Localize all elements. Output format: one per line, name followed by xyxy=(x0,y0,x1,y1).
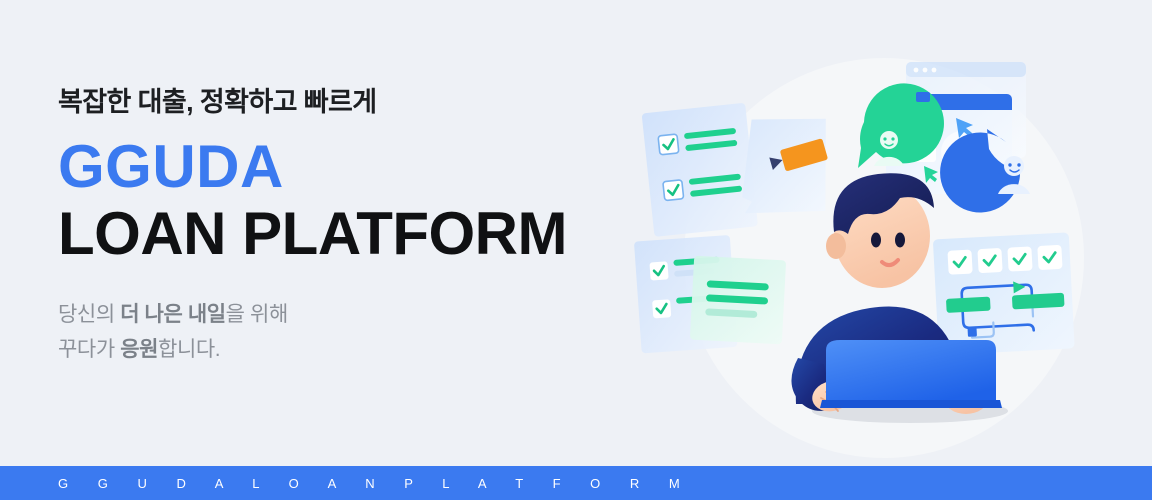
laptop-lid xyxy=(826,340,996,404)
tagline-2-pre: 꾸다가 xyxy=(58,338,120,361)
hero-product-title: LOAN PLATFORM xyxy=(58,203,618,264)
hero-banner: 복잡한 대출, 정확하고 빠르게 GGUDA LOAN PLATFORM 당신의… xyxy=(0,0,1152,500)
bottom-marquee-strip: G G U D A L O A N P L A T F O R M xyxy=(0,466,1152,500)
hero-copy: 복잡한 대출, 정확하고 빠르게 GGUDA LOAN PLATFORM 당신의… xyxy=(58,86,618,367)
eye-left xyxy=(871,233,881,248)
browser-dot xyxy=(923,68,928,73)
pencil-document-card xyxy=(741,113,832,219)
tagline-1-post: 을 위해 xyxy=(226,303,288,326)
eye-right xyxy=(895,233,905,248)
browser-dot xyxy=(932,68,937,73)
hero-tagline-line-1: 당신의 더 나은 내일을 위해 xyxy=(58,298,618,333)
hero-tagline: 당신의 더 나은 내일을 위해 꾸다가 응원합니다. xyxy=(58,298,618,367)
checklist-card-top xyxy=(642,103,758,237)
browser-dot xyxy=(914,68,919,73)
tagline-2-post: 합니다. xyxy=(158,338,220,361)
tagline-1-bold: 더 나은 내일 xyxy=(120,303,225,326)
tagline-1-pre: 당신의 xyxy=(58,303,120,326)
flowchart-card xyxy=(933,232,1075,355)
note-card-green xyxy=(690,256,786,345)
bottom-marquee-text: G G U D A L O A N P L A T F O R M xyxy=(0,476,693,491)
hero-eyebrow: 복잡한 대출, 정확하고 빠르게 xyxy=(58,86,618,120)
laptop-base xyxy=(820,400,1002,408)
tagline-2-bold: 응원 xyxy=(120,338,158,361)
hero-brand-title: GGUDA xyxy=(58,136,618,197)
hero-tagline-line-2: 꾸다가 응원합니다. xyxy=(58,333,618,368)
loan-platform-illustration xyxy=(600,0,1152,466)
